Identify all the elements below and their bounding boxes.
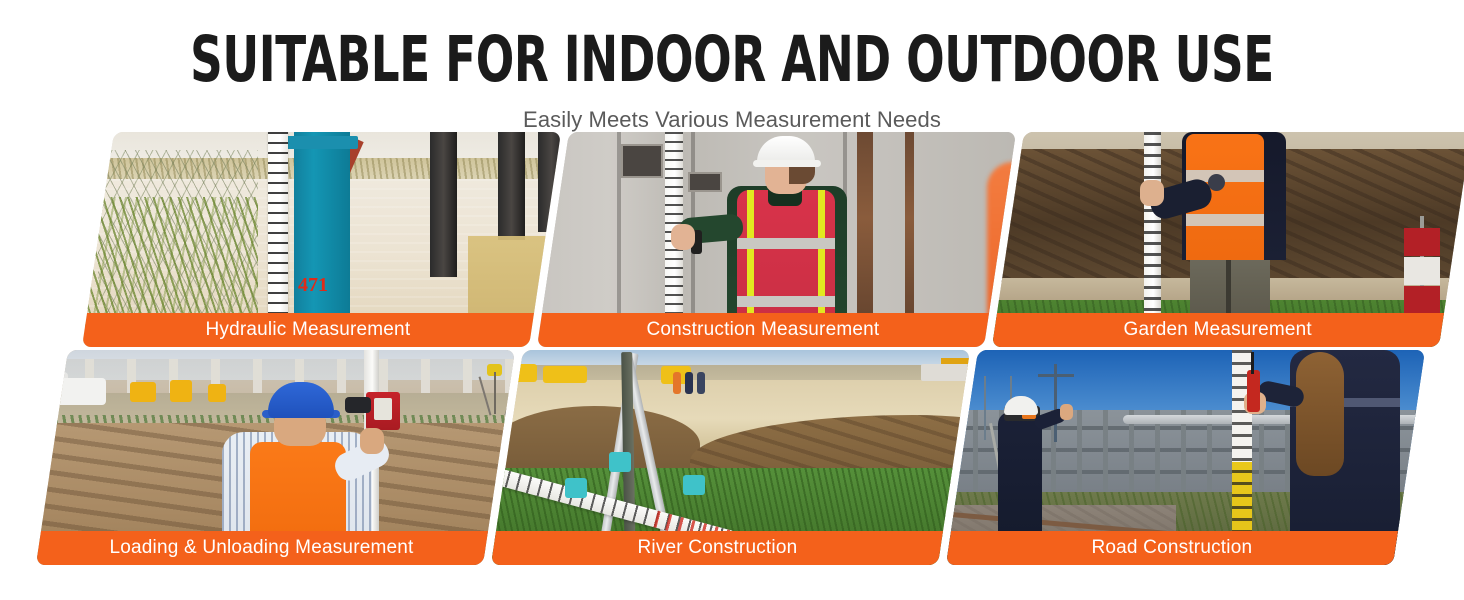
feature-card-river-construction[interactable]: River Construction bbox=[491, 350, 970, 565]
card-caption-label: Construction Measurement bbox=[647, 319, 880, 341]
feature-card-garden-measurement[interactable]: Garden Measurement bbox=[992, 132, 1464, 347]
card-caption-bar: Construction Measurement bbox=[537, 313, 989, 347]
header: SUITABLE FOR INDOOR AND OUTDOOR USE Easi… bbox=[0, 0, 1464, 133]
card-caption-bar: Road Construction bbox=[946, 531, 1398, 565]
card-caption-bar: River Construction bbox=[491, 531, 943, 565]
card-caption-bar: Loading & Unloading Measurement bbox=[36, 531, 488, 565]
page-title: SUITABLE FOR INDOOR AND OUTDOOR USE bbox=[146, 0, 1317, 91]
card-caption-label: Loading & Unloading Measurement bbox=[110, 537, 414, 559]
promo-banner: SUITABLE FOR INDOOR AND OUTDOOR USE Easi… bbox=[0, 0, 1464, 600]
feature-card-construction-measurement[interactable]: Construction Measurement bbox=[537, 132, 1016, 347]
feature-gallery: 471 Hydraulic Measurement bbox=[0, 132, 1464, 572]
card-caption-bar: Garden Measurement bbox=[992, 313, 1444, 347]
card-caption-label: Road Construction bbox=[1092, 537, 1253, 559]
feature-card-loading-unloading-measurement[interactable]: Loading & Unloading Measurement bbox=[36, 350, 515, 565]
card-caption-bar: Hydraulic Measurement bbox=[82, 313, 534, 347]
gallery-row: Loading & Unloading Measurement bbox=[0, 350, 1464, 565]
gallery-row: 471 Hydraulic Measurement bbox=[0, 132, 1464, 347]
feature-card-hydraulic-measurement[interactable]: 471 Hydraulic Measurement bbox=[82, 132, 561, 347]
card-caption-label: River Construction bbox=[637, 537, 797, 559]
card-caption-label: Garden Measurement bbox=[1124, 319, 1312, 341]
card-caption-label: Hydraulic Measurement bbox=[206, 319, 411, 341]
page-subtitle: Easily Meets Various Measurement Needs bbox=[0, 91, 1464, 133]
feature-card-road-construction[interactable]: Road Construction bbox=[946, 350, 1425, 565]
